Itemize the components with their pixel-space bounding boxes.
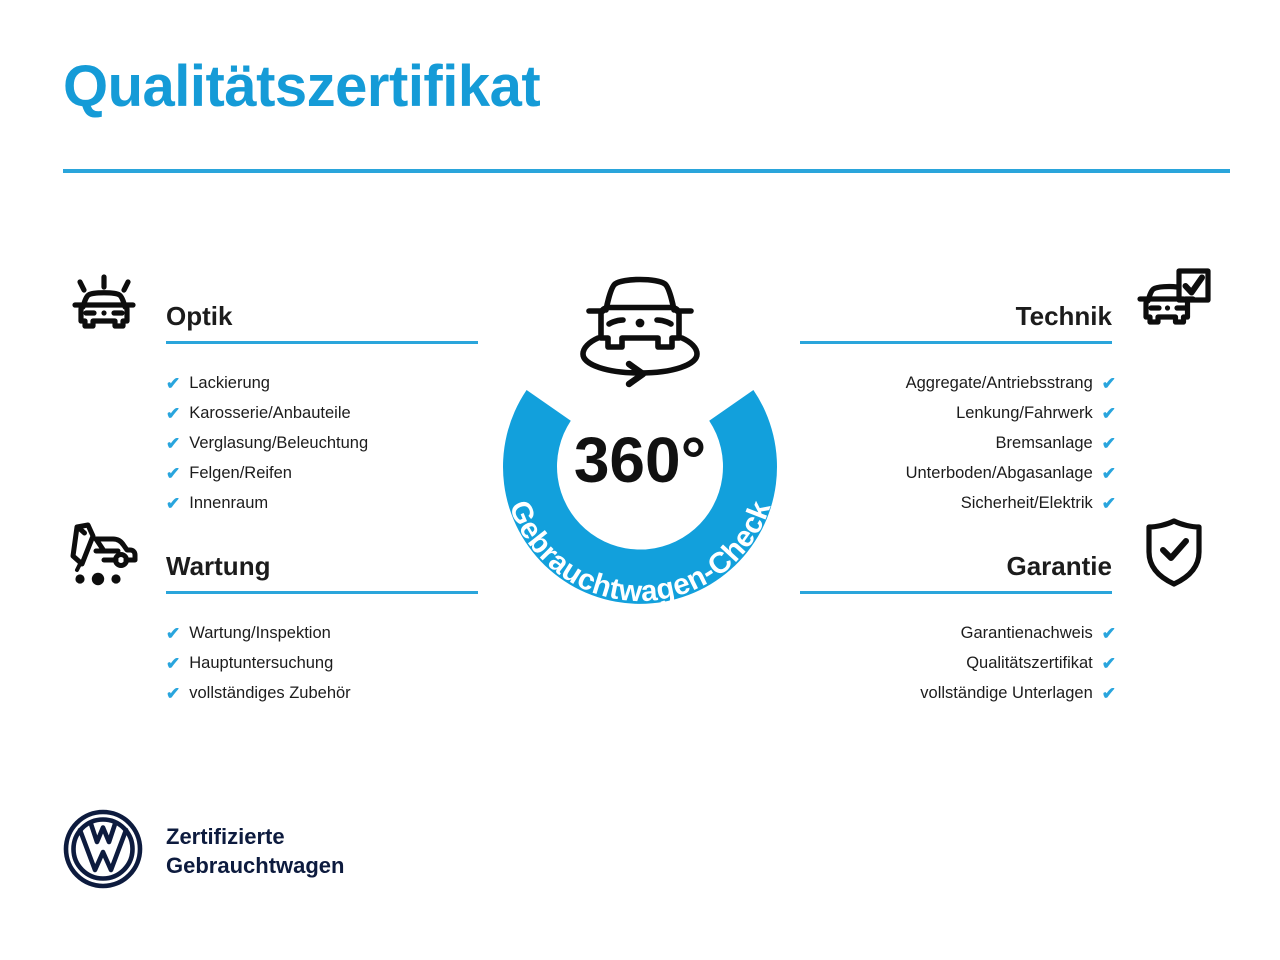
list-item-label: vollständige Unterlagen — [920, 684, 1092, 703]
section-header: Wartung — [58, 508, 478, 596]
section-divider — [800, 591, 1112, 594]
page-title: Qualitätszertifikat — [63, 55, 540, 119]
footer-line-2: Gebrauchtwagen — [166, 852, 344, 881]
section-title-wrap: Optik — [150, 302, 478, 346]
list-item-label: Garantienachweis — [961, 624, 1093, 643]
list-item-label: Wartung/Inspektion — [189, 624, 331, 643]
volkswagen-logo — [62, 808, 144, 895]
section-header: Technik — [800, 258, 1220, 346]
section-title-wrap: Technik — [800, 302, 1128, 346]
car-shine-icon — [58, 258, 150, 346]
list-item: Qualitätszertifikat✔ — [800, 648, 1116, 678]
checklist-garantie: Garantienachweis✔ Qualitätszertifikat✔ v… — [800, 618, 1220, 708]
section-title: Technik — [800, 302, 1112, 341]
check-icon: ✔ — [1102, 655, 1116, 672]
section-divider — [800, 341, 1112, 344]
list-item-label: Felgen/Reifen — [189, 464, 292, 483]
list-item: ✔Felgen/Reifen — [166, 458, 478, 488]
check-icon: ✔ — [166, 625, 180, 642]
section-header: Garantie — [800, 508, 1220, 596]
check-icon: ✔ — [1102, 465, 1116, 482]
section-title: Garantie — [800, 552, 1112, 591]
list-item-label: Bremsanlage — [996, 434, 1093, 453]
section-garantie: Garantie Garantienachweis✔ Qualitätszert… — [800, 508, 1220, 708]
section-wartung: Wartung ✔Wartung/Inspektion ✔Hauptunters… — [58, 508, 478, 708]
car-rotate-360-icon — [583, 280, 697, 385]
footer-brand-text: Zertifizierte Gebrauchtwagen — [166, 823, 344, 880]
section-optik: Optik ✔Lackierung ✔Karosserie/Anbauteile… — [58, 258, 478, 518]
list-item: Lenkung/Fahrwerk✔ — [800, 398, 1116, 428]
list-item: ✔Karosserie/Anbauteile — [166, 398, 478, 428]
list-item-label: Hauptuntersuchung — [189, 654, 333, 673]
section-title-wrap: Wartung — [150, 552, 478, 596]
section-divider — [166, 341, 478, 344]
footer-brand: Zertifizierte Gebrauchtwagen — [62, 808, 344, 895]
list-item: Bremsanlage✔ — [800, 428, 1116, 458]
car-service-pen-icon — [58, 508, 150, 596]
check-icon: ✔ — [1102, 375, 1116, 392]
check-icon: ✔ — [1102, 625, 1116, 642]
check-icon: ✔ — [166, 375, 180, 392]
checklist-technik: Aggregate/Antriebsstrang✔ Lenkung/Fahrwe… — [800, 368, 1220, 518]
car-checkbox-icon — [1128, 258, 1220, 346]
list-item: Unterboden/Abgasanlage✔ — [800, 458, 1116, 488]
check-icon: ✔ — [166, 435, 180, 452]
check-icon: ✔ — [1102, 435, 1116, 452]
list-item-label: Lackierung — [189, 374, 270, 393]
checklist-optik: ✔Lackierung ✔Karosserie/Anbauteile ✔Verg… — [58, 368, 478, 518]
list-item-label: Lenkung/Fahrwerk — [956, 404, 1093, 423]
list-item: Garantienachweis✔ — [800, 618, 1116, 648]
list-item-label: Aggregate/Antriebsstrang — [906, 374, 1093, 393]
list-item-label: Karosserie/Anbauteile — [189, 404, 350, 423]
shield-check-icon — [1128, 508, 1220, 596]
checklist-wartung: ✔Wartung/Inspektion ✔Hauptuntersuchung ✔… — [58, 618, 478, 708]
list-item-label: Verglasung/Beleuchtung — [189, 434, 368, 453]
section-title-wrap: Garantie — [800, 552, 1128, 596]
badge-ring — [503, 390, 777, 604]
gebrauchtwagen-check-badge: Gebrauchtwagen-Check 360° — [463, 252, 817, 642]
check-icon: ✔ — [166, 465, 180, 482]
check-icon: ✔ — [1102, 405, 1116, 422]
badge-center-text: 360° — [574, 424, 706, 496]
list-item: ✔Lackierung — [166, 368, 478, 398]
list-item: ✔Hauptuntersuchung — [166, 648, 478, 678]
check-icon: ✔ — [166, 655, 180, 672]
section-header: Optik — [58, 258, 478, 346]
list-item: ✔vollständiges Zubehör — [166, 678, 478, 708]
list-item-label: Qualitätszertifikat — [966, 654, 1093, 673]
check-icon: ✔ — [166, 405, 180, 422]
list-item-label: vollständiges Zubehör — [189, 684, 350, 703]
check-icon: ✔ — [1102, 685, 1116, 702]
section-technik: Technik Aggregate/Antriebsstrang✔ Lenkun… — [800, 258, 1220, 518]
section-title: Wartung — [166, 552, 478, 591]
check-icon: ✔ — [166, 685, 180, 702]
list-item: Aggregate/Antriebsstrang✔ — [800, 368, 1116, 398]
list-item: ✔Wartung/Inspektion — [166, 618, 478, 648]
title-divider — [63, 169, 1230, 173]
section-title: Optik — [166, 302, 478, 341]
list-item: vollständige Unterlagen✔ — [800, 678, 1116, 708]
list-item: ✔Verglasung/Beleuchtung — [166, 428, 478, 458]
footer-line-1: Zertifizierte — [166, 823, 344, 852]
list-item-label: Unterboden/Abgasanlage — [906, 464, 1093, 483]
section-divider — [166, 591, 478, 594]
